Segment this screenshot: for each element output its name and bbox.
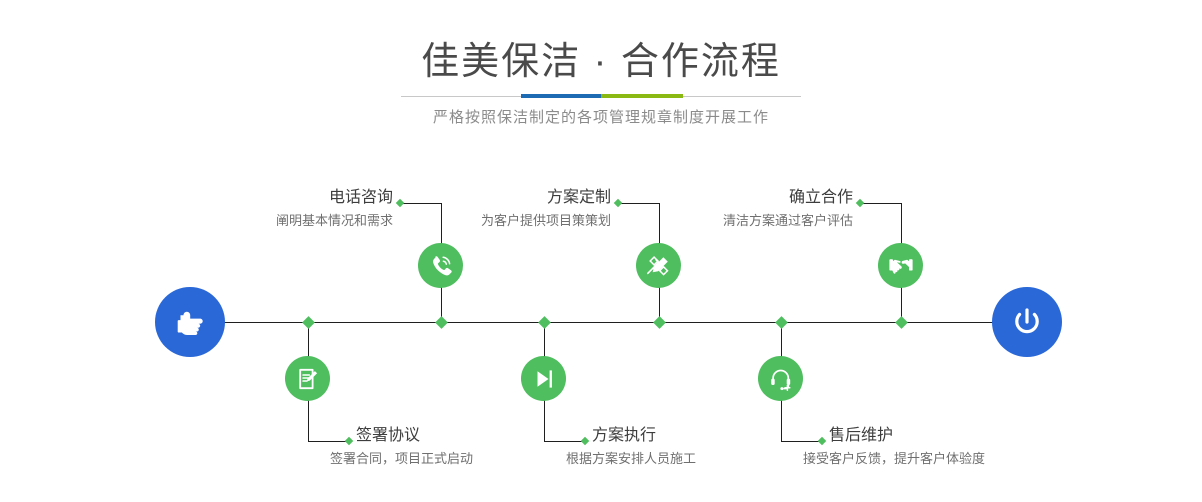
step-icon-6[interactable] — [758, 356, 803, 401]
phone-call-icon — [428, 253, 454, 279]
page-subtitle: 严格按照保洁制定的各项管理规章制度开展工作 — [0, 106, 1202, 130]
pointing-hand-icon — [170, 302, 210, 342]
label-marker-step-5 — [856, 199, 864, 207]
pencil-ruler-icon — [646, 253, 672, 279]
connector-horizontal-step-6 — [781, 441, 822, 442]
document-edit-icon — [295, 366, 321, 392]
step-label-6: 售后维护 接受客户反馈，提升客户体验度 — [829, 425, 1129, 469]
step-title-5: 确立合作 — [565, 187, 853, 209]
connector-horizontal-step-3 — [618, 203, 659, 204]
axis-marker-step-2 — [302, 316, 315, 329]
step-label-5: 确立合作 清洁方案通过客户评估 — [565, 187, 853, 231]
headset-support-icon — [768, 366, 794, 392]
connector-horizontal-step-5 — [860, 203, 901, 204]
connector-horizontal-step-2 — [308, 441, 349, 442]
axis-marker-step-1 — [435, 316, 448, 329]
step-icon-4[interactable] — [521, 356, 566, 401]
timeline-axis — [160, 322, 1042, 323]
step-icon-1[interactable] — [418, 243, 463, 288]
page-title: 佳美保洁 · 合作流程 — [0, 38, 1202, 86]
step-icon-3[interactable] — [636, 243, 681, 288]
step-icon-2[interactable] — [285, 356, 330, 401]
axis-marker-step-5 — [895, 316, 908, 329]
divider-accent-blue — [521, 94, 601, 98]
divider-accent-green — [601, 94, 683, 98]
step-desc-6: 接受客户反馈，提升客户体验度 — [803, 449, 1129, 469]
connector-horizontal-step-1 — [400, 203, 441, 204]
step-title-6: 售后维护 — [829, 425, 1129, 447]
step-desc-5: 清洁方案通过客户评估 — [565, 211, 853, 231]
power-icon — [1007, 302, 1047, 342]
timeline-end-node — [992, 287, 1062, 357]
timeline-start-node — [155, 287, 225, 357]
title-divider — [401, 94, 801, 98]
flow-diagram-page: 佳美保洁 · 合作流程 严格按照保洁制定的各项管理规章制度开展工作 — [0, 0, 1202, 502]
connector-horizontal-step-4 — [544, 441, 585, 442]
step-icon-5[interactable] — [878, 243, 923, 288]
label-marker-step-2 — [345, 437, 353, 445]
axis-marker-step-3 — [653, 316, 666, 329]
play-execute-icon — [531, 366, 557, 392]
handshake-icon — [888, 253, 914, 279]
axis-marker-step-4 — [538, 316, 551, 329]
axis-marker-step-6 — [775, 316, 788, 329]
